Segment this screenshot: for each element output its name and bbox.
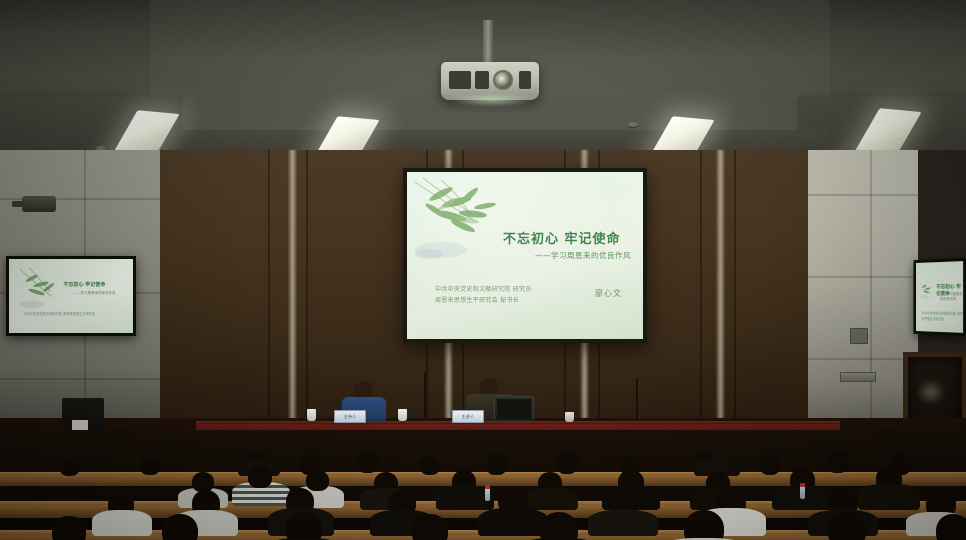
nameplate-text: 主持人 (335, 411, 365, 423)
desk-row (0, 474, 966, 486)
presenter-laptop (494, 396, 534, 422)
audience-shoulders (524, 488, 578, 510)
audience-head (420, 456, 440, 475)
projector-vent (449, 71, 471, 89)
nameplate: 主持人 (334, 410, 366, 423)
water-bottle (800, 486, 805, 499)
projection-screen: 不忘初心 牢记使命 ——学习周恩来的优良作风 中共中央党史和文献研究院 研究员 … (403, 168, 647, 343)
wall-panel-right (808, 150, 918, 440)
right-wall-monitor: 不忘初心 牢记使命 ——学习周恩来的优良作风 中共中央党史和文献研究院 周恩来思… (913, 258, 966, 336)
audience-head (828, 512, 866, 540)
slide-title: 不忘初心 牢记使命 (503, 228, 643, 247)
right-monitor-meta: 中共中央党史和文献研究院 周恩来思想生平研究会 (921, 311, 963, 324)
projector-lens-icon (493, 70, 513, 90)
lecture-hall-photo: 不忘初心 牢记使命 ——学习周恩来的优良作风 中共中央党史和文献研究院 研究员 … (0, 0, 966, 540)
right-monitor-subtitle: ——学习周恩来的优良作风 (940, 292, 963, 302)
audience-head (52, 516, 86, 540)
audience-head (306, 470, 329, 491)
paper-cup (307, 409, 316, 421)
audience-head (140, 457, 160, 475)
audience-shoulders (92, 510, 152, 536)
audience-head (60, 460, 79, 476)
audience-head (192, 472, 214, 492)
slide-surface: 不忘初心 牢记使命 ——学习周恩来的优良作风 中共中央党史和文献研究院 研究员 … (407, 172, 643, 339)
audience-head (826, 450, 849, 473)
table-microphone (424, 372, 426, 420)
audience-head (760, 455, 780, 475)
right-monitor-screen: 不忘初心 牢记使命 ——学习周恩来的优良作风 中共中央党史和文献研究院 周恩来思… (916, 261, 963, 333)
nameplate-text: 主讲人 (453, 411, 483, 423)
slide-presenter-name: 廖心文 (595, 288, 622, 299)
slide-org-line-2: 周恩来思想生平研究会 秘书长 (435, 295, 595, 306)
paper-cup (398, 409, 407, 421)
nameplate: 主讲人 (452, 410, 484, 423)
audience-shoulders (588, 510, 658, 536)
smoke-detector-icon (628, 122, 638, 127)
audience-head (286, 512, 322, 540)
projector-light-glow (448, 94, 536, 106)
security-camera-icon (22, 196, 56, 212)
projector-vent (519, 71, 531, 89)
audience-shoulders (858, 484, 920, 510)
projector-vent (475, 71, 489, 89)
left-wall-monitor: 不忘初心 牢记使命 ——学习周恩来的优良作风 中共中央党史和文献研究院 周恩来思… (6, 256, 136, 336)
audience-head (356, 450, 379, 473)
slide-subtitle: ——学习周恩来的优良作风 (535, 250, 643, 261)
left-monitor-title: 不忘初心 牢记使命 (64, 281, 106, 288)
bottle-cap (800, 483, 805, 487)
audience-head (684, 510, 724, 540)
left-monitor-screen: 不忘初心 牢记使命 ——学习周恩来的优良作风 中共中央党史和文献研究院 周恩来思… (9, 259, 133, 333)
audience-head (248, 466, 272, 488)
audience-head (162, 514, 198, 540)
audience-head (412, 514, 448, 540)
wall-outlet-panel (840, 372, 876, 382)
booth-interior-glow (916, 379, 946, 405)
audience-shoulders (478, 508, 548, 536)
audience-head (486, 454, 507, 475)
audience-seating (0, 430, 966, 540)
paper-cup (565, 412, 574, 422)
slide-org-lines: 中共中央党史和文献研究院 研究员 周恩来思想生平研究会 秘书长 (435, 284, 595, 306)
wall-access-plate (850, 328, 868, 344)
audience-head (556, 452, 578, 474)
water-bottle (485, 488, 490, 501)
audience-head (540, 512, 578, 540)
bottle-cap (485, 485, 490, 489)
slide-org-line-1: 中共中央党史和文献研究院 研究员 (435, 284, 595, 295)
left-monitor-subtitle: ——学习周恩来的优良作风 (73, 291, 115, 296)
left-monitor-meta: 中共中央党史和文献研究院 周恩来思想生平研究会 (24, 311, 95, 317)
projector-mount-pole (483, 20, 493, 66)
bamboo-illustration-icon (16, 266, 63, 312)
bamboo-illustration-icon (919, 269, 936, 312)
bamboo-illustration-icon (411, 176, 516, 266)
audience-head (936, 514, 966, 540)
table-microphone (636, 378, 638, 420)
laptop-screen (497, 399, 531, 419)
